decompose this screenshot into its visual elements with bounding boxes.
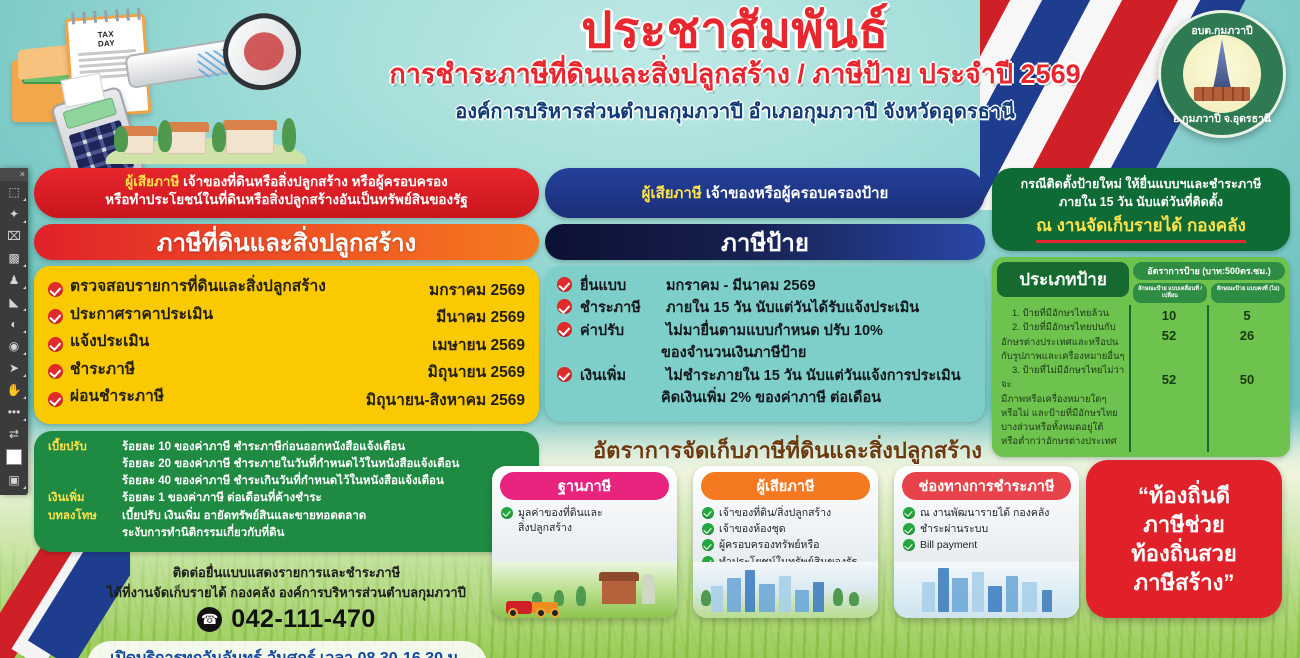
table-col0-header: ประเภทป้าย	[997, 262, 1129, 297]
contact-block: ติดต่อยื่นแบบแสดงรายการและชำระภาษี ได้ที…	[34, 563, 539, 634]
check-icon	[48, 364, 63, 379]
table-row-name-cont: หรือไม่ และป้ายที่มีอักษรไทย	[1001, 407, 1126, 421]
rate-card-item: ชำระผ่านระบบ	[903, 522, 1071, 537]
phone-block[interactable]: ☎ 042-111-470	[34, 605, 539, 634]
check-icon	[702, 523, 714, 535]
schedule-row: ผ่อนชำระภาษี มิถุนายน-สิงหาคม 2569	[48, 385, 525, 413]
rate-card-item: เจ้าของที่ดิน/สิ่งปลูกสร้าง	[702, 506, 870, 521]
rate-card-item: Bill payment	[903, 538, 1071, 553]
land-taxpayer-line1: เจ้าของที่ดินหรือสิ่งปลูกสร้าง หรือผู้คร…	[183, 174, 448, 189]
penalty-value: ร้อยละ 10 ของค่าภาษี ชำระภาษีก่อนออกหนัง…	[122, 439, 525, 456]
rate-card-payment-channel: ช่องทางการชำระภาษี ณ งานพัฒนารายได้ กองค…	[894, 466, 1079, 618]
office-hours-line-1: เปิดบริการทุกวันจันทร์-วันศุกร์ เวลา 08.…	[97, 646, 477, 658]
table-cell: 5	[1209, 308, 1285, 323]
table-row-name-cont: กับรูปภาพและเครื่องหมายอื่นๆ	[1001, 350, 1126, 364]
blur-tool-icon[interactable]: ◐	[0, 313, 28, 335]
close-icon[interactable]: ×	[20, 170, 25, 179]
village-illustration	[106, 102, 306, 164]
signboard-row-key: ยื่นแบบ	[580, 275, 658, 297]
header-artwork: TAXDAY	[6, 2, 306, 162]
city-illustration-1	[693, 562, 878, 618]
rate-card-item-text: เจ้าของห้องชุด	[719, 522, 870, 537]
check-icon	[903, 507, 915, 519]
notice-line-3: ณ งานจัดเก็บรายได้ กองคลัง	[1036, 212, 1246, 243]
signboard-row: ค่าปรับ ไม่มายื่นตามแบบกำหนด ปรับ 10%	[557, 320, 973, 342]
table-cell: 52	[1131, 328, 1207, 343]
swap-colors-icon[interactable]: ⇄	[0, 423, 28, 445]
table-cell: 50	[1209, 372, 1285, 387]
penalty-box: เบี้ยปรับ ร้อยละ 10 ของค่าภาษี ชำระภาษีก…	[34, 431, 539, 553]
new-signboard-notice: กรณีติดตั้งป้ายใหม่ ให้ยื่นแบบฯและชำระภา…	[992, 168, 1290, 251]
land-tax-section-title-text: ภาษีที่ดินและสิ่งปลูกสร้าง	[157, 223, 417, 262]
penalty-value: ระงับการทำนิติกรรมเกี่ยวกับที่ดิน	[122, 525, 525, 542]
check-icon	[48, 282, 63, 297]
penalty-value: ร้อยละ 40 ของค่าภาษี ชำระเกินวันที่กำหนด…	[122, 473, 525, 490]
penalty-value: เบี้ยปรับ เงินเพิ่ม อายัดทรัพย์สินและขาย…	[122, 508, 525, 525]
signboard-taxpayer-banner: ผู้เสียภาษี เจ้าของหรือผู้ครอบครองป้าย	[545, 168, 985, 218]
table-row-name-cont: มีภาพหรือเครื่องหมายใดๆ	[1001, 393, 1126, 407]
contact-line-2: ได้ที่งานจัดเก็บรายได้ กองคลัง องค์การบร…	[34, 583, 539, 603]
signboard-row-key: เงินเพิ่ม	[580, 365, 658, 387]
rate-card-taxpayer: ผู้เสียภาษี เจ้าของที่ดิน/สิ่งปลูกสร้าง …	[693, 466, 878, 618]
phone-number[interactable]: 042-111-470	[231, 605, 376, 634]
signboard-row: เงินเพิ่ม ไม่ชำระภายใน 15 วัน นับแต่วันแ…	[557, 365, 973, 387]
rate-card-item-text: มูลค่าของที่ดินและ	[518, 507, 603, 519]
penalty-value: ร้อยละ 20 ของค่าภาษี ชำระภายในวันที่กำหน…	[122, 456, 525, 473]
table-cell: 10	[1131, 308, 1207, 323]
land-taxpayer-line2: หรือทำประโยชน์ในที่ดินหรือสิ่งปลูกสร้างอ…	[105, 192, 468, 207]
signboard-row-value: ภายใน 15 วัน นับแต่วันได้รับแจ้งประเมิน	[666, 297, 973, 319]
table-row-name: 1. ป้ายที่มีอักษรไทยล้วน	[1001, 307, 1126, 321]
penalty-key: เงินเพิ่ม	[48, 490, 122, 507]
table-body: 1. ป้ายที่มีอักษรไทยล้วน 2. ป้ายที่มีอัก…	[997, 305, 1285, 452]
check-icon	[48, 309, 63, 324]
table-col2-values: 5 26 50	[1207, 305, 1285, 452]
rate-card-item: มูลค่าของที่ดินและ สิ่งปลูกสร้าง	[501, 506, 669, 536]
schedule-label: ชำระภาษี	[70, 358, 135, 382]
rate-cards: ฐานภาษี มูลค่าของที่ดินและ สิ่งปลูกสร้าง…	[492, 466, 1080, 618]
signboard-row-cont: คิดเงินเพิ่ม 2% ของค่าภาษี ต่อเดือน	[557, 387, 973, 409]
penalty-value: ร้อยละ 1 ของค่าภาษี ต่อเดือนที่ค้างชำระ	[122, 490, 525, 507]
check-icon	[501, 507, 513, 519]
signboard-row-value: ไม่มายื่นตามแบบกำหนด ปรับ 10%	[666, 320, 973, 342]
poster-title-block: ประชาสัมพันธ์ การชำระภาษีที่ดินและสิ่งปล…	[310, 6, 1160, 127]
schedule-value: มีนาคม 2569	[436, 306, 525, 330]
leaf-icon-right	[1264, 65, 1273, 87]
check-icon	[903, 523, 915, 535]
check-icon	[557, 367, 572, 382]
organization-name: องค์การบริหารส่วนตำบลกุมภวาปี อำเภอกุมภว…	[310, 95, 1160, 127]
rate-card-item-subtext: สิ่งปลูกสร้าง	[518, 521, 669, 536]
land-tax-section-title: ภาษีที่ดินและสิ่งปลูกสร้าง	[34, 224, 539, 260]
farm-illustration	[492, 562, 677, 618]
table-row-name-cont: อักษรต่างประเทศและหรือปน	[1001, 336, 1126, 350]
schedule-value: มกราคม 2569	[429, 279, 525, 303]
rate-card-item-text: เจ้าของที่ดิน/สิ่งปลูกสร้าง	[719, 506, 870, 521]
signboard-row-value: มกราคม - มีนาคม 2569	[666, 275, 973, 297]
signboard-tax-column: ผู้เสียภาษี เจ้าของหรือผู้ครอบครองป้าย ภ…	[545, 168, 985, 422]
schedule-value: เมษายน 2569	[432, 334, 525, 358]
signboard-row-key: ชำระภาษี	[580, 297, 658, 319]
table-rate-caption: อัตราการป้าย (บาท:500ตร.ซม.)	[1133, 262, 1285, 280]
land-taxpayer-label: ผู้เสียภาษี	[125, 174, 179, 189]
seal-bottom-text: อ.กุมภวาปี จ.อุดรธานี	[1161, 110, 1283, 127]
signboard-taxpayer-text: เจ้าของหรือผู้ครอบครองป้าย	[706, 185, 888, 202]
signboard-row-cont: ของจำนวนเงินภาษีป้าย	[557, 342, 973, 364]
schedule-label: ตรวจสอบรายการที่ดินและสิ่งปลูกสร้าง	[70, 275, 326, 299]
signboard-tax-section-title: ภาษีป้าย	[545, 224, 985, 260]
check-icon	[48, 337, 63, 352]
signboard-row: ชำระภาษี ภายใน 15 วัน นับแต่วันได้รับแจ้…	[557, 297, 973, 319]
rate-card-item: ณ งานพัฒนารายได้ กองคลัง	[903, 506, 1071, 521]
page-subtitle: การชำระภาษีที่ดินและสิ่งปลูกสร้าง / ภาษี…	[310, 58, 1160, 90]
signboard-row-value-2: ของจำนวนเงินภาษีป้าย	[661, 342, 973, 364]
schedule-label: แจ้งประเมิน	[70, 330, 149, 354]
city-illustration-2	[894, 562, 1079, 618]
signboard-tax-section-title-text: ภาษีป้าย	[721, 223, 809, 262]
rate-card-item-text: Bill payment	[920, 538, 1071, 553]
path-select-tool-icon[interactable]: ➤	[0, 357, 28, 379]
rate-card-item-text: ณ งานพัฒนารายได้ กองคลัง	[920, 506, 1071, 521]
poster-canvas: TAXDAY ประชาสัมพันธ์ การชำระภาษีที่ดินแล…	[0, 0, 1300, 658]
signboard-rate-table: ประเภทป้าย อัตราการป้าย (บาท:500ตร.ซม.) …	[992, 257, 1290, 456]
more-tools-icon[interactable]: •••	[0, 401, 28, 423]
signboard-row-key: ค่าปรับ	[580, 320, 658, 342]
schedule-label: ประกาศราคาประเมิน	[70, 303, 213, 327]
editor-toolbar[interactable]: × ⬚ ✦ ⌧ ▩ ♟ ◣ ◐ ◉ ➤ ✋ ••• ⇄ ▣	[0, 168, 28, 495]
office-hours-box: เปิดบริการทุกวันจันทร์-วันศุกร์ เวลา 08.…	[87, 641, 487, 658]
table-header: ประเภทป้าย อัตราการป้าย (บาท:500ตร.ซม.) …	[997, 262, 1285, 303]
eraser-tool-icon[interactable]: ◣	[0, 291, 28, 313]
patch-tool-icon[interactable]: ▩	[0, 247, 28, 269]
table-cell: 52	[1131, 372, 1207, 387]
foreground-color-swatch[interactable]	[0, 445, 28, 469]
signboard-tax-details-box: ยื่นแบบ มกราคม - มีนาคม 2569 ชำระภาษี ภา…	[545, 266, 985, 422]
table-row-name: 3. ป้ายที่ไม่มีอักษรไทยไม่ว่าจะ	[1001, 364, 1126, 393]
rate-card-item-text: ผู้ครอบครองทรัพย์หรือ	[719, 538, 870, 553]
table-subheader-1: ลักษณะป้าย แบบเคลื่อนที่ / เปลี่ยน	[1133, 283, 1207, 303]
rate-card-tax-base: ฐานภาษี มูลค่าของที่ดินและ สิ่งปลูกสร้าง	[492, 466, 677, 618]
penalty-key: เบี้ยปรับ	[48, 439, 122, 456]
schedule-value: มิถุนายน 2569	[428, 361, 525, 385]
table-cell: 26	[1209, 328, 1285, 343]
check-icon	[557, 322, 572, 337]
signboard-taxpayer-label: ผู้เสียภาษี	[642, 185, 702, 202]
schedule-row: ประกาศราคาประเมิน มีนาคม 2569	[48, 303, 525, 331]
seal-top-text: อบต.กุมภวาปี	[1161, 22, 1283, 39]
schedule-row: ตรวจสอบรายการที่ดินและสิ่งปลูกสร้าง มกรา…	[48, 275, 525, 303]
contact-line-1: ติดต่อยื่นแบบแสดงรายการและชำระภาษี	[34, 563, 539, 583]
table-col1-values: 10 52 52	[1131, 305, 1207, 452]
rate-card-item: เจ้าของห้องชุด	[702, 522, 870, 537]
check-icon	[48, 392, 63, 407]
hand-tool-icon[interactable]: ✋	[0, 379, 28, 401]
dodge-tool-icon[interactable]: ◉	[0, 335, 28, 357]
rate-section-title: อัตราการจัดเก็บภาษีที่ดินและสิ่งปลูกสร้า…	[500, 433, 1075, 468]
check-icon	[903, 539, 915, 551]
check-icon	[557, 277, 572, 292]
schedule-row: แจ้งประเมิน เมษายน 2569	[48, 330, 525, 358]
crop-tool-icon[interactable]: ⌧	[0, 225, 28, 247]
check-icon	[702, 539, 714, 551]
check-icon	[557, 299, 572, 314]
notice-line-2: ภายใน 15 วัน นับแต่วันที่ติดตั้ง	[1002, 193, 1280, 211]
check-icon	[702, 507, 714, 519]
megaphone-icon	[126, 10, 301, 105]
land-building-tax-column: ผู้เสียภาษี เจ้าของที่ดินหรือสิ่งปลูกสร้…	[34, 168, 539, 658]
rate-card-caption: ฐานภาษี	[500, 472, 669, 500]
slogan-box: “ท้องถิ่นดีภาษีช่วยท้องถิ่นสวยภาษีสร้าง”	[1086, 460, 1282, 618]
land-taxpayer-banner: ผู้เสียภาษี เจ้าของที่ดินหรือสิ่งปลูกสร้…	[34, 168, 539, 218]
rate-card-caption: ผู้เสียภาษี	[701, 472, 870, 500]
toolbar-titlebar[interactable]: ×	[0, 168, 28, 181]
stamp-tool-icon[interactable]: ♟	[0, 269, 28, 291]
rate-card-caption: ช่องทางการชำระภาษี	[902, 472, 1071, 500]
penalty-key: บทลงโทษ	[48, 508, 122, 525]
signboard-row-value: ไม่ชำระภายใน 15 วัน นับแต่วันแจ้งการประเ…	[666, 365, 973, 387]
table-subheader-2: ลักษณะป้าย แบบคงที่ (ไม่)	[1211, 283, 1285, 303]
land-tax-schedule-box: ตรวจสอบรายการที่ดินและสิ่งปลูกสร้าง มกรา…	[34, 266, 539, 424]
signboard-row: ยื่นแบบ มกราคม - มีนาคม 2569	[557, 275, 973, 297]
rate-card-item-text: ชำระผ่านระบบ	[920, 522, 1071, 537]
municipality-seal: อบต.กุมภวาปี อ.กุมภวาปี จ.อุดรธานี	[1158, 10, 1286, 138]
slogan-text: “ท้องถิ่นดีภาษีช่วยท้องถิ่นสวยภาษีสร้าง”	[1131, 481, 1237, 597]
signboard-row-value-2: คิดเงินเพิ่ม 2% ของค่าภาษี ต่อเดือน	[661, 387, 973, 409]
notice-line-1: กรณีติดตั้งป้ายใหม่ ให้ยื่นแบบฯและชำระภา…	[1002, 175, 1280, 193]
signboard-rate-column: กรณีติดตั้งป้ายใหม่ ให้ยื่นแบบฯและชำระภา…	[992, 168, 1290, 457]
marquee-tool-icon[interactable]: ⬚	[0, 181, 28, 203]
rate-card-item: ผู้ครอบครองทรัพย์หรือ	[702, 538, 870, 553]
leaf-icon-left	[1171, 65, 1180, 87]
magic-wand-tool-icon[interactable]: ✦	[0, 203, 28, 225]
phone-icon: ☎	[197, 607, 222, 632]
schedule-label: ผ่อนชำระภาษี	[70, 385, 164, 409]
screen-mode-tool-icon[interactable]: ▣	[0, 469, 28, 491]
table-row-name: 2. ป้ายที่มีอักษรไทยปนกับ	[1001, 321, 1126, 335]
schedule-row: ชำระภาษี มิถุนายน 2569	[48, 358, 525, 386]
schedule-value: มิถุนายน-สิงหาคม 2569	[366, 389, 525, 413]
page-title: ประชาสัมพันธ์	[310, 6, 1160, 57]
